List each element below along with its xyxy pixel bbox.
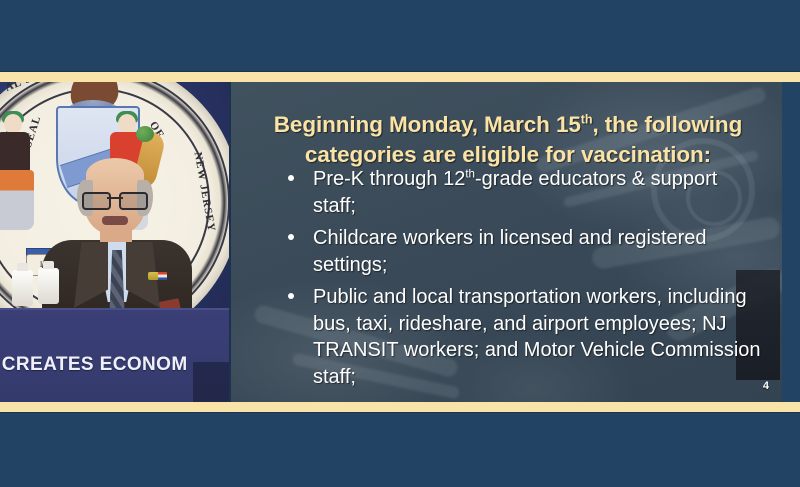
seal-figure-head — [118, 114, 136, 134]
bullet-text-prefix: Public and local transportation workers,… — [313, 286, 761, 388]
slide-right-gutter — [782, 82, 800, 402]
seal-figure-body — [0, 132, 30, 174]
speaker-forehead — [86, 158, 144, 192]
bullet-text-prefix: Pre-K through 12 — [313, 168, 465, 190]
broadcast-frame: THE GREAT SEAL AL SEA OF NEW JERSEY — [0, 0, 800, 487]
bottom-accent-rule — [0, 402, 800, 412]
water-bottle-icon — [38, 268, 59, 304]
bottle-cap — [17, 263, 28, 271]
presentation-slide[interactable]: Beginning Monday, March 15th, the follow… — [231, 82, 782, 402]
bullet-dot-icon — [288, 234, 294, 240]
seal-figure-head — [4, 114, 22, 134]
slide-title: Beginning Monday, March 15th, the follow… — [245, 110, 771, 170]
bullet-dot-icon — [288, 293, 294, 299]
bottle-cap — [43, 261, 54, 269]
seal-figure-liberty — [0, 114, 36, 234]
list-item: Public and local transportation workers,… — [279, 284, 765, 390]
seal-cornucopia-fruit — [136, 126, 154, 142]
seal-figure-skirt — [0, 170, 34, 230]
slide-title-superscript: th — [581, 113, 593, 127]
eyeglass-lens-right — [119, 192, 148, 210]
list-item: Childcare workers in licensed and regist… — [279, 225, 765, 278]
list-item: Pre-K through 12th-grade educators & sup… — [279, 166, 765, 219]
top-accent-rule — [0, 72, 800, 82]
bullet-dot-icon — [288, 175, 294, 181]
broadcast-strip: THE GREAT SEAL AL SEA OF NEW JERSEY — [0, 82, 800, 402]
slide-bullet-list: Pre-K through 12th-grade educators & sup… — [279, 166, 765, 396]
lapel-pin-flag-icon — [158, 272, 167, 280]
slide-content: Beginning Monday, March 15th, the follow… — [231, 82, 782, 402]
slide-title-prefix: Beginning Monday, March 15 — [274, 112, 581, 137]
bullet-text-prefix: Childcare workers in licensed and regist… — [313, 227, 707, 276]
video-feed[interactable]: THE GREAT SEAL AL SEA OF NEW JERSEY — [0, 82, 229, 402]
speaker-mouth — [102, 216, 128, 225]
eyeglass-lens-left — [82, 192, 111, 210]
bullet-superscript: th — [465, 167, 475, 180]
water-bottle-icon — [12, 270, 33, 306]
feed-corner-shadow — [193, 362, 229, 402]
slide-page-number: 4 — [763, 380, 769, 392]
eyeglasses-icon — [82, 192, 148, 206]
